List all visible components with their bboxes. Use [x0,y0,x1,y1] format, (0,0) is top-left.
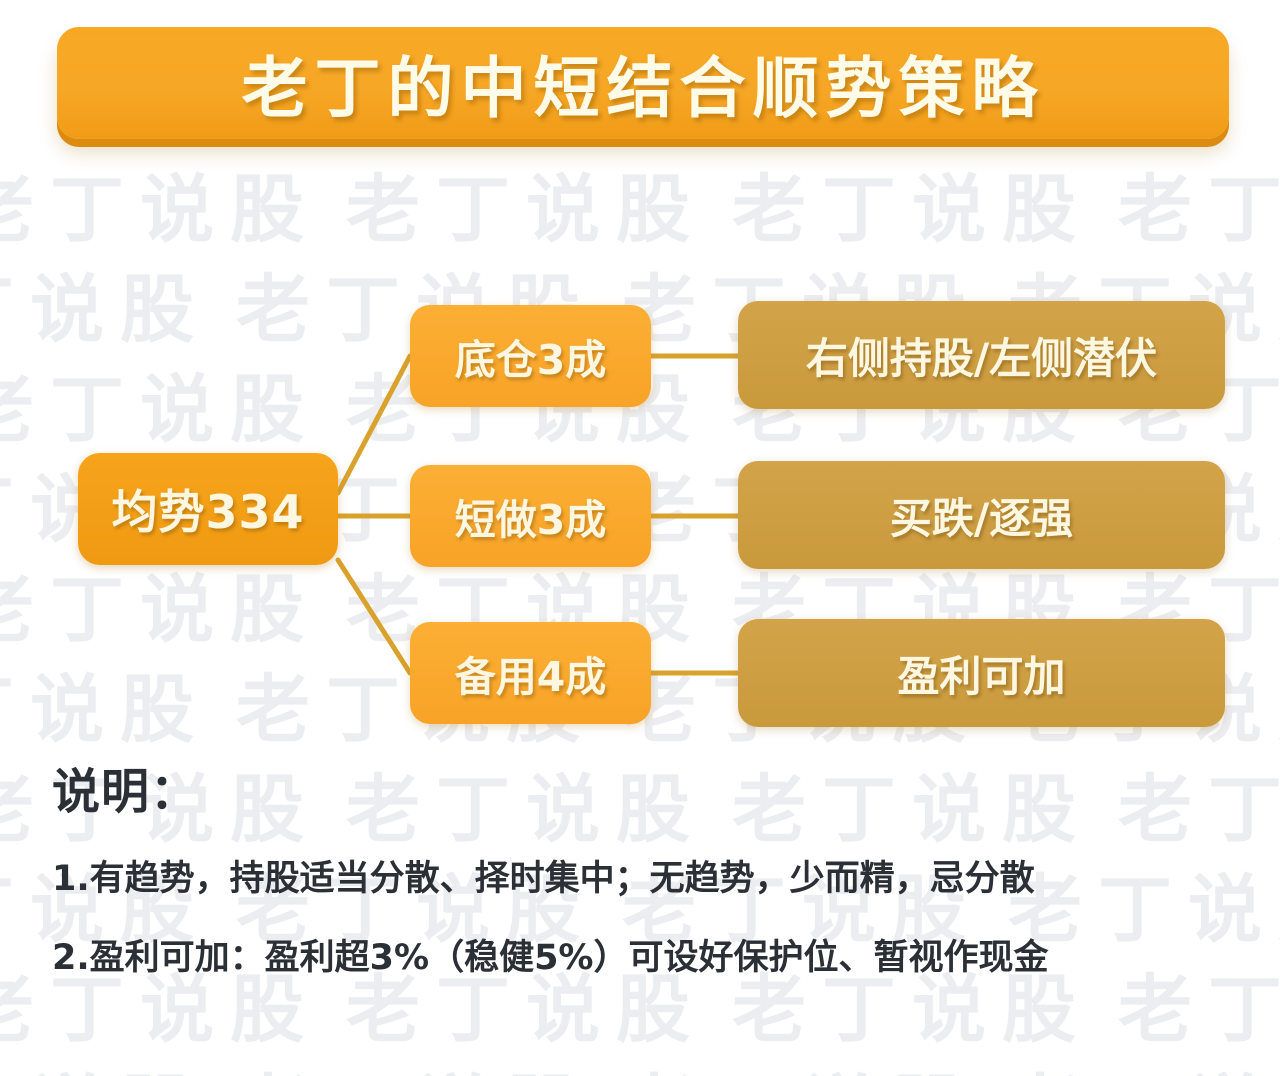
node-middle-1[interactable]: 短做3成 [410,465,651,567]
node-right-1-label: 买跌/逐强 [890,485,1073,546]
note-line-2: 2.盈利可加：盈利超3%（稳健5%）可设好保护位、暂视作现金 [52,929,1242,980]
title-banner: 老丁的中短结合顺势策略 [57,27,1229,139]
note-line-1: 1.有趋势，持股适当分散、择时集中；无趋势，少而精，忌分散 [52,850,1242,901]
page-title: 老丁的中短结合顺势策略 [242,35,1045,131]
notes-section: 说明： 1.有趋势，持股适当分散、择时集中；无趋势，少而精，忌分散 2.盈利可加… [52,752,1242,1008]
node-middle-2-label: 备用4成 [455,643,607,703]
node-right-0-label: 右侧持股/左侧潜伏 [806,325,1157,386]
node-middle-1-label: 短做3成 [455,486,607,546]
node-right-2-label: 盈利可加 [897,643,1065,704]
node-right-0[interactable]: 右侧持股/左侧潜伏 [738,301,1225,409]
node-middle-0[interactable]: 底仓3成 [410,305,651,407]
node-middle-0-label: 底仓3成 [455,326,607,386]
node-root[interactable]: 均势334 [78,453,338,565]
node-right-1[interactable]: 买跌/逐强 [738,461,1225,569]
node-middle-2[interactable]: 备用4成 [410,622,651,724]
node-right-2[interactable]: 盈利可加 [738,619,1225,727]
notes-heading: 说明： [52,752,1242,822]
node-root-label: 均势334 [111,476,304,542]
